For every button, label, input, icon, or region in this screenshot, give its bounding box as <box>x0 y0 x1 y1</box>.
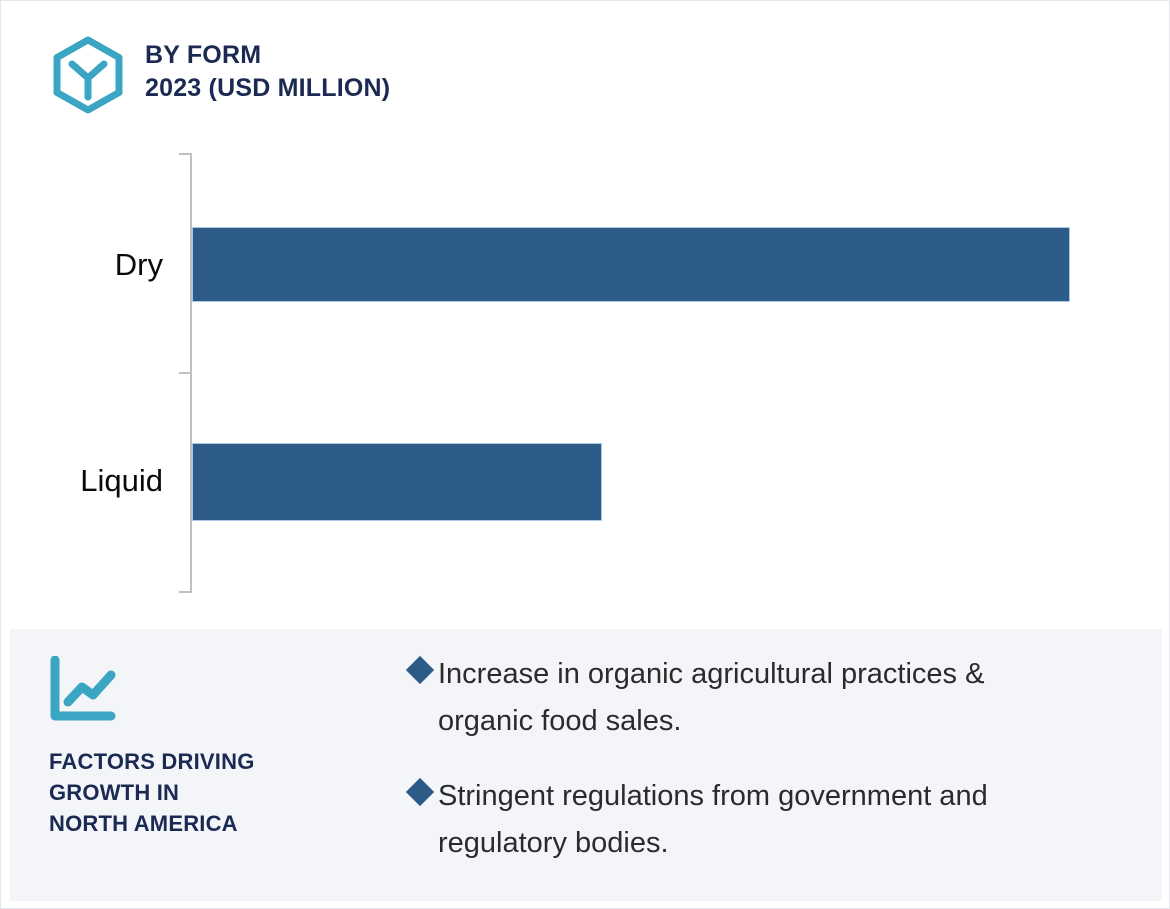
factors-title-block: FACTORS DRIVING GROWTH IN NORTH AMERICA <box>49 656 379 840</box>
factors-panel: FACTORS DRIVING GROWTH IN NORTH AMERICA … <box>10 629 1162 901</box>
factors-list: Increase in organic agricultural practic… <box>410 651 1110 895</box>
factor-text: Stringent regulations from government an… <box>438 773 1078 867</box>
axis-tick-top <box>179 153 191 155</box>
infographic-card: BY FORM 2023 (USD MILLION) Dry Liquid FA… <box>0 0 1170 909</box>
factors-title-line3: NORTH AMERICA <box>49 808 379 839</box>
bar-liquid <box>192 443 602 521</box>
diamond-bullet-icon <box>406 656 434 684</box>
list-item: Stringent regulations from government an… <box>410 773 1110 867</box>
bar-dry <box>192 227 1070 302</box>
factors-title-line2: GROWTH IN <box>49 777 379 808</box>
category-label-liquid: Liquid <box>0 465 163 496</box>
axis-tick-middle <box>179 372 191 374</box>
factor-text: Increase in organic agricultural practic… <box>438 651 1078 745</box>
factors-title: FACTORS DRIVING GROWTH IN NORTH AMERICA <box>49 746 379 840</box>
diamond-bullet-icon <box>406 778 434 806</box>
category-label-dry: Dry <box>0 249 163 280</box>
list-item: Increase in organic agricultural practic… <box>410 651 1110 745</box>
factors-title-line1: FACTORS DRIVING <box>49 746 379 777</box>
line-chart-icon <box>49 656 121 724</box>
axis-tick-bottom <box>179 591 191 593</box>
bar-chart: Dry Liquid <box>1 1 1170 629</box>
